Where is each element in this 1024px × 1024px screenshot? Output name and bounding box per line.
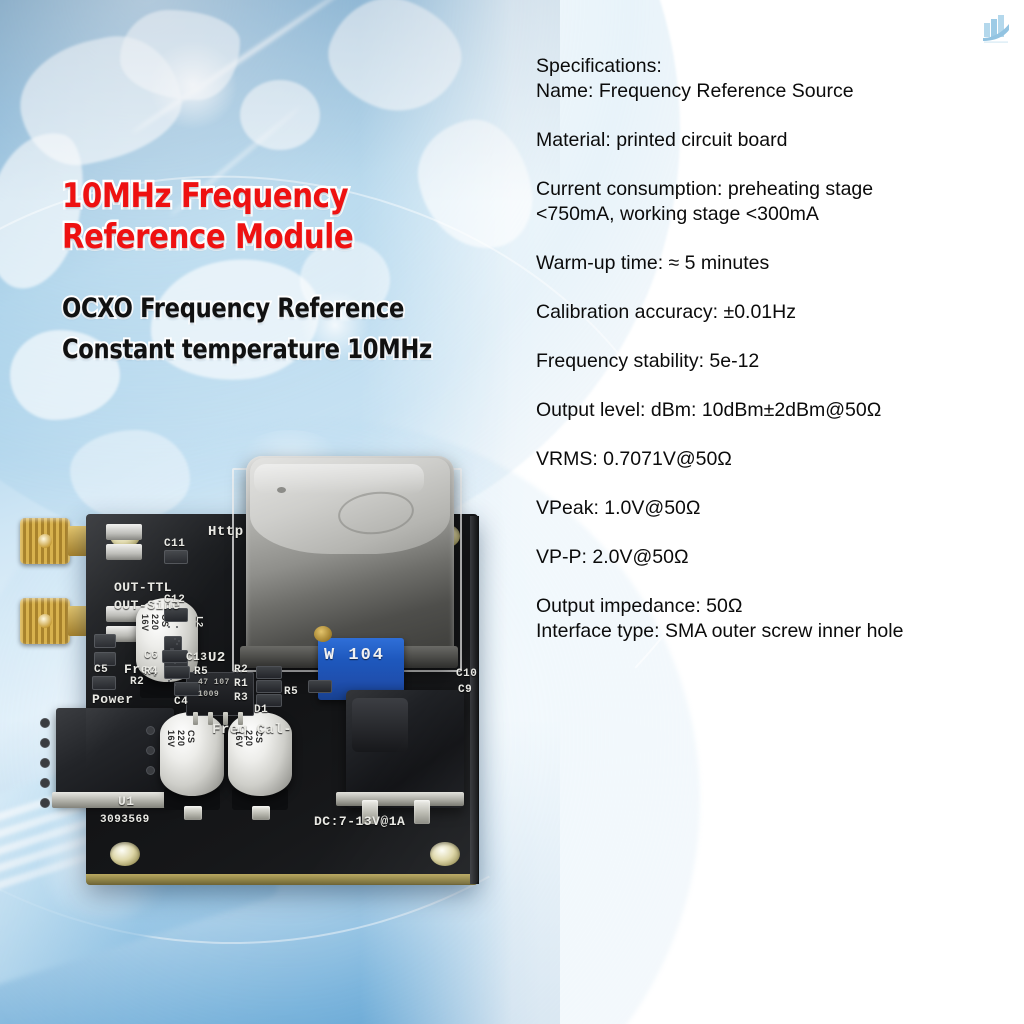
silk-dc-input: DC:7-13V@1A xyxy=(314,814,405,829)
pcb-right-edge xyxy=(470,516,479,884)
dc-jack-solder-base xyxy=(336,792,464,806)
silk-u1: U1 xyxy=(118,794,135,809)
cap-text: 16V xyxy=(166,730,176,748)
headline-block: 10MHz Frequency Reference Module OCXO Fr… xyxy=(62,176,482,370)
cap-text: 220 xyxy=(176,730,186,747)
solder-joint xyxy=(184,806,202,820)
trimpot-label: W 104 xyxy=(324,646,385,665)
spec-heading: Specifications: xyxy=(536,54,1016,79)
pad-hole xyxy=(146,726,155,735)
silk-r2: R2 xyxy=(234,664,248,676)
smd-part-r2 xyxy=(94,634,116,648)
spec-output-level: Output level: dBm: 10dBm±2dBm@50Ω xyxy=(536,398,1016,423)
u1-regulator-module xyxy=(56,708,174,804)
pad-hole xyxy=(40,718,50,728)
smd-capacitor-c4 xyxy=(174,682,200,696)
silk-r1: R1 xyxy=(234,678,248,690)
silk-out-ttl: OUT-TTL xyxy=(114,580,172,595)
silk-c5: C5 xyxy=(94,664,108,676)
trimpot-screw xyxy=(314,626,332,642)
pad-hole xyxy=(40,738,50,748)
pad-hole xyxy=(146,766,155,775)
silk-c10: C10 xyxy=(456,668,477,680)
silk-r5-top: R5 xyxy=(194,666,208,678)
spec-vpeak: VPeak: 1.0V@50Ω xyxy=(536,496,1016,521)
sma-connector-out-sine xyxy=(20,598,84,644)
specifications-list: Specifications: Name: Frequency Referenc… xyxy=(536,54,1016,644)
silk-u2: U2 xyxy=(208,650,226,666)
silk-serial-number: 3093569 xyxy=(100,814,150,826)
spec-current-line-2: <750mA, working stage <300mA xyxy=(536,202,1016,227)
cap-text: CS xyxy=(186,730,196,744)
mounting-hole xyxy=(110,842,140,866)
cap-text: 220 xyxy=(150,614,160,631)
silk-r4: R4 xyxy=(144,666,158,678)
silk-c12: C12 xyxy=(164,594,185,606)
sma-connector-out-ttl xyxy=(20,518,84,564)
spec-name: Name: Frequency Reference Source xyxy=(536,79,1016,104)
mounting-hole xyxy=(430,842,460,866)
dc-jack-barrel xyxy=(352,698,408,752)
spec-material: Material: printed circuit board xyxy=(536,128,1016,153)
sma-solder-tab xyxy=(106,544,142,560)
spec-vpp: VP-P: 2.0V@50Ω xyxy=(536,545,1016,570)
smd-capacitor-c10 xyxy=(308,680,332,693)
cap-text: 16V xyxy=(140,614,150,632)
silk-power: Power xyxy=(92,692,134,707)
smd-resistor-r1 xyxy=(256,680,282,693)
bar-chart-watermark-logo xyxy=(979,12,1013,44)
headline-line-1: 10MHz Frequency xyxy=(62,176,423,217)
silk-u2-mark-2: 1009 xyxy=(198,690,219,699)
headline-line-2: Reference Module xyxy=(62,217,423,258)
solder-joint xyxy=(414,800,430,824)
silk-http: Http xyxy=(208,524,244,540)
silk-r2-small: R2 xyxy=(130,676,144,688)
spec-frequency-stability: Frequency stability: 5e-12 xyxy=(536,349,1016,374)
smd-capacitor-c6 xyxy=(162,650,188,663)
silk-c4: C4 xyxy=(174,696,188,708)
smd-resistor-r4 xyxy=(164,666,190,679)
product-photo-pcb: W 104 CS 220 16V CS 220 16V CS 220 16V xyxy=(18,440,508,910)
silk-c6: C6 xyxy=(144,650,158,662)
pad-hole xyxy=(40,798,50,808)
spec-warmup-time: Warm-up time: ≈ 5 minutes xyxy=(536,251,1016,276)
product-image-page: 10MHz Frequency Reference Module OCXO Fr… xyxy=(0,0,1024,1024)
pad-hole xyxy=(146,746,155,755)
silk-c11: C11 xyxy=(164,538,185,550)
pad-hole xyxy=(40,758,50,768)
ocxo-marking-dot xyxy=(277,487,286,493)
spec-calibration: Calibration accuracy: ±0.01Hz xyxy=(536,300,1016,325)
silk-l2: L2 xyxy=(194,616,204,628)
subheadline-line-2: Constant temperature 10MHz xyxy=(62,329,415,370)
spec-interface-type: Interface type: SMA outer screw inner ho… xyxy=(536,619,1016,644)
silk-d1: D1 xyxy=(254,704,268,716)
silk-u2-mark-1: 47 107 xyxy=(198,678,230,687)
solder-joint xyxy=(252,806,270,820)
silk-c13: C13 xyxy=(186,652,207,664)
sma-solder-tab xyxy=(106,524,142,540)
pcb-bottom-edge xyxy=(86,874,478,885)
smd-capacitor-c5 xyxy=(92,676,116,690)
smd-resistor-r2 xyxy=(256,666,282,679)
smd-capacitor-c11 xyxy=(164,550,188,564)
silk-freq-cal: Freq Cal- xyxy=(212,722,292,738)
silk-r3: R3 xyxy=(234,692,248,704)
pad-hole xyxy=(40,778,50,788)
silk-r5-side: R5 xyxy=(284,686,298,698)
subheadline-line-1: OCXO Frequency Reference xyxy=(62,288,415,329)
silk-c9: C9 xyxy=(458,684,472,696)
u1-solder-bar xyxy=(52,792,178,808)
spec-output-impedance: Output impedance: 50Ω xyxy=(536,594,1016,619)
spec-current-line-1: Current consumption: preheating stage xyxy=(536,177,1016,202)
spec-vrms: VRMS: 0.7071V@50Ω xyxy=(536,447,1016,472)
